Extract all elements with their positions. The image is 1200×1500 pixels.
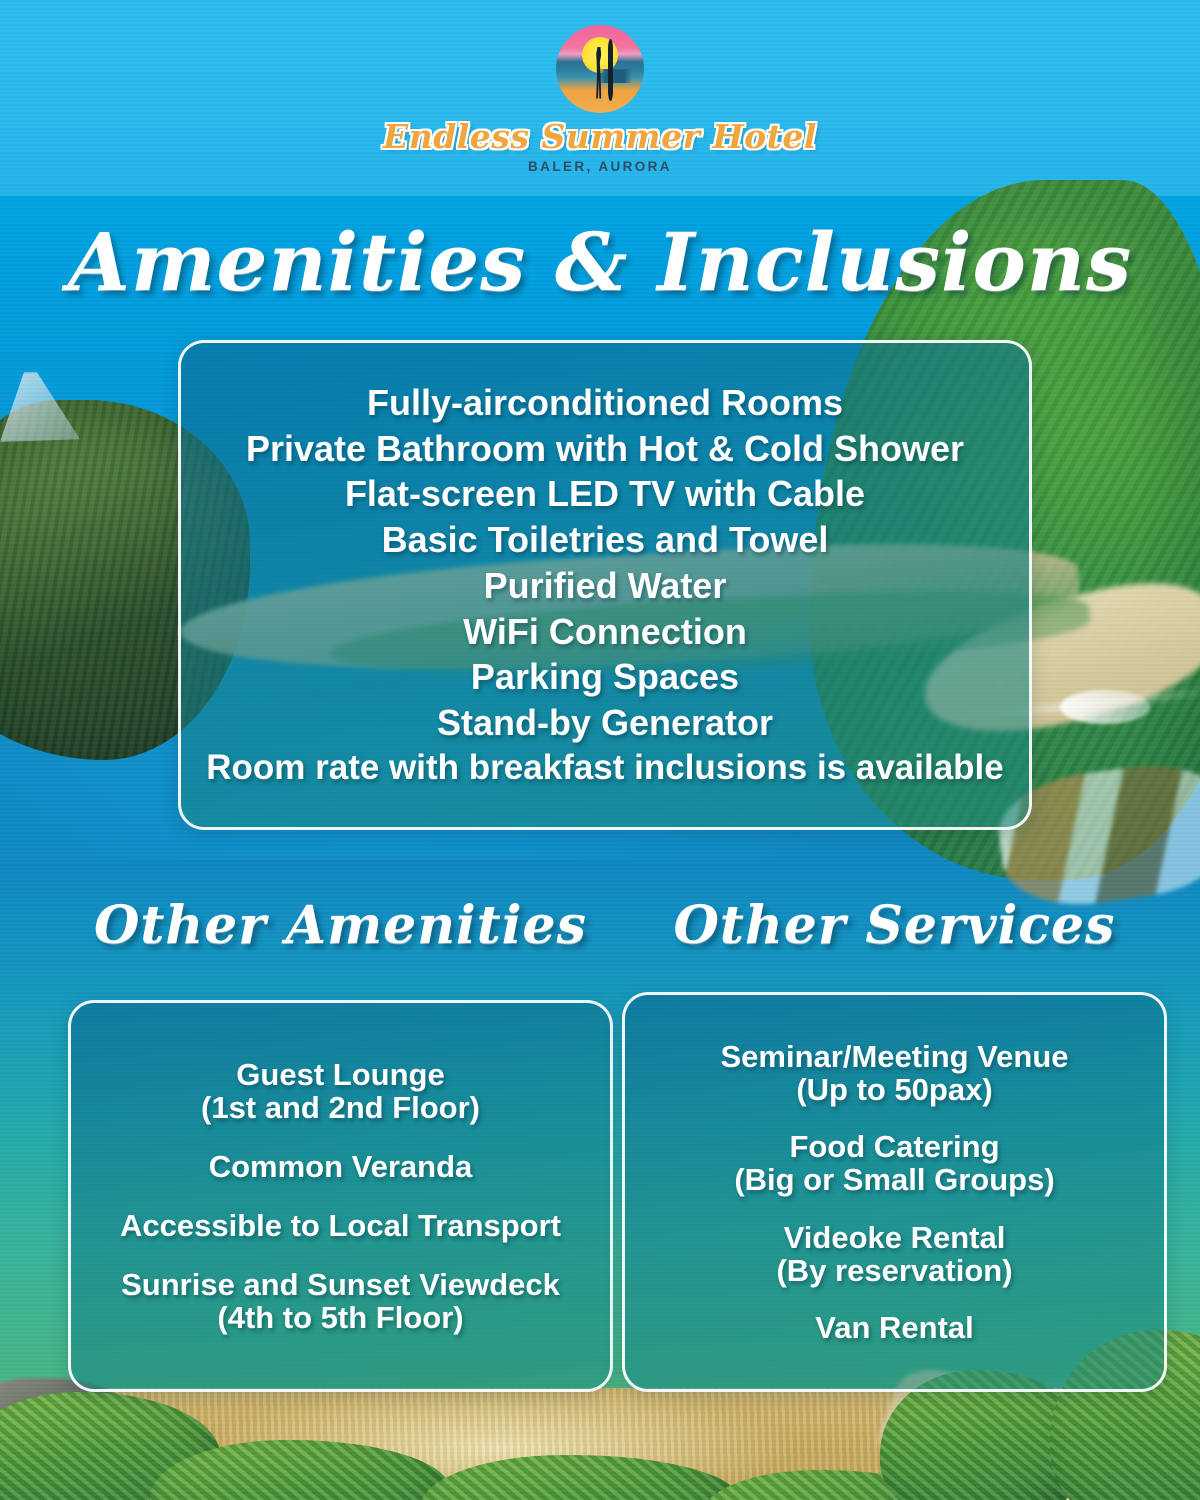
- brand-name: Endless Summer Hotel: [383, 117, 817, 156]
- list-item-line2: (4th to 5th Floor): [120, 1301, 561, 1334]
- brand-location: BALER, AURORA: [528, 159, 672, 174]
- other-services-card: Seminar/Meeting Venue (Up to 50pax) Food…: [622, 992, 1167, 1392]
- inclusions-card: Fully-airconditioned Rooms Private Bathr…: [178, 340, 1032, 830]
- list-item: Seminar/Meeting Venue (Up to 50pax): [721, 1040, 1069, 1106]
- list-item: Common Veranda: [120, 1150, 561, 1183]
- list-item: Room rate with breakfast inclusions is a…: [206, 746, 1003, 790]
- list-item: Stand-by Generator: [206, 700, 1003, 746]
- list-item: Fully-airconditioned Rooms: [206, 380, 1003, 426]
- list-item-line2: (Big or Small Groups): [721, 1163, 1069, 1196]
- page-title: Amenities & Inclusions: [0, 222, 1200, 302]
- list-item-line2: (By reservation): [721, 1254, 1069, 1287]
- list-item: Basic Toiletries and Towel: [206, 517, 1003, 563]
- list-item: Private Bathroom with Hot & Cold Shower: [206, 426, 1003, 472]
- sunset-surfer-circle-icon: [556, 25, 644, 113]
- other-services-list: Seminar/Meeting Venue (Up to 50pax) Food…: [721, 1040, 1069, 1344]
- list-item: Sunrise and Sunset Viewdeck (4th to 5th …: [120, 1268, 561, 1334]
- header: Endless Summer Hotel BALER, AURORA: [0, 0, 1200, 198]
- list-item: Food Catering (Big or Small Groups): [721, 1130, 1069, 1196]
- other-amenities-card: Guest Lounge (1st and 2nd Floor) Common …: [68, 1000, 613, 1392]
- list-item-line1: Guest Lounge: [236, 1057, 444, 1092]
- list-item: Van Rental: [721, 1311, 1069, 1344]
- list-item-line1: Common Veranda: [209, 1149, 473, 1184]
- inclusions-list: Fully-airconditioned Rooms Private Bathr…: [188, 380, 1021, 790]
- other-amenities-list: Guest Lounge (1st and 2nd Floor) Common …: [120, 1058, 561, 1335]
- list-item: Guest Lounge (1st and 2nd Floor): [120, 1058, 561, 1124]
- list-item-line2: (Up to 50pax): [721, 1073, 1069, 1106]
- other-services-title: Other Services: [622, 900, 1167, 952]
- list-item: Flat-screen LED TV with Cable: [206, 471, 1003, 517]
- list-item: Parking Spaces: [206, 654, 1003, 700]
- brand-logo: Endless Summer Hotel BALER, AURORA: [383, 25, 817, 174]
- list-item: Accessible to Local Transport: [120, 1209, 561, 1242]
- list-item-line1: Seminar/Meeting Venue: [721, 1039, 1069, 1074]
- list-item-line1: Videoke Rental: [784, 1220, 1006, 1255]
- list-item-line1: Sunrise and Sunset Viewdeck: [121, 1267, 560, 1302]
- surfboard-icon: [608, 39, 613, 101]
- list-item: WiFi Connection: [206, 609, 1003, 655]
- other-amenities-title: Other Amenities: [68, 900, 613, 952]
- list-item-line1: Van Rental: [815, 1310, 974, 1345]
- reef-patch-small: [1060, 690, 1150, 724]
- list-item-line1: Food Catering: [789, 1129, 999, 1164]
- list-item: Purified Water: [206, 563, 1003, 609]
- list-item-line1: Accessible to Local Transport: [120, 1208, 561, 1243]
- list-item-line2: (1st and 2nd Floor): [120, 1091, 561, 1124]
- list-item: Videoke Rental (By reservation): [721, 1221, 1069, 1287]
